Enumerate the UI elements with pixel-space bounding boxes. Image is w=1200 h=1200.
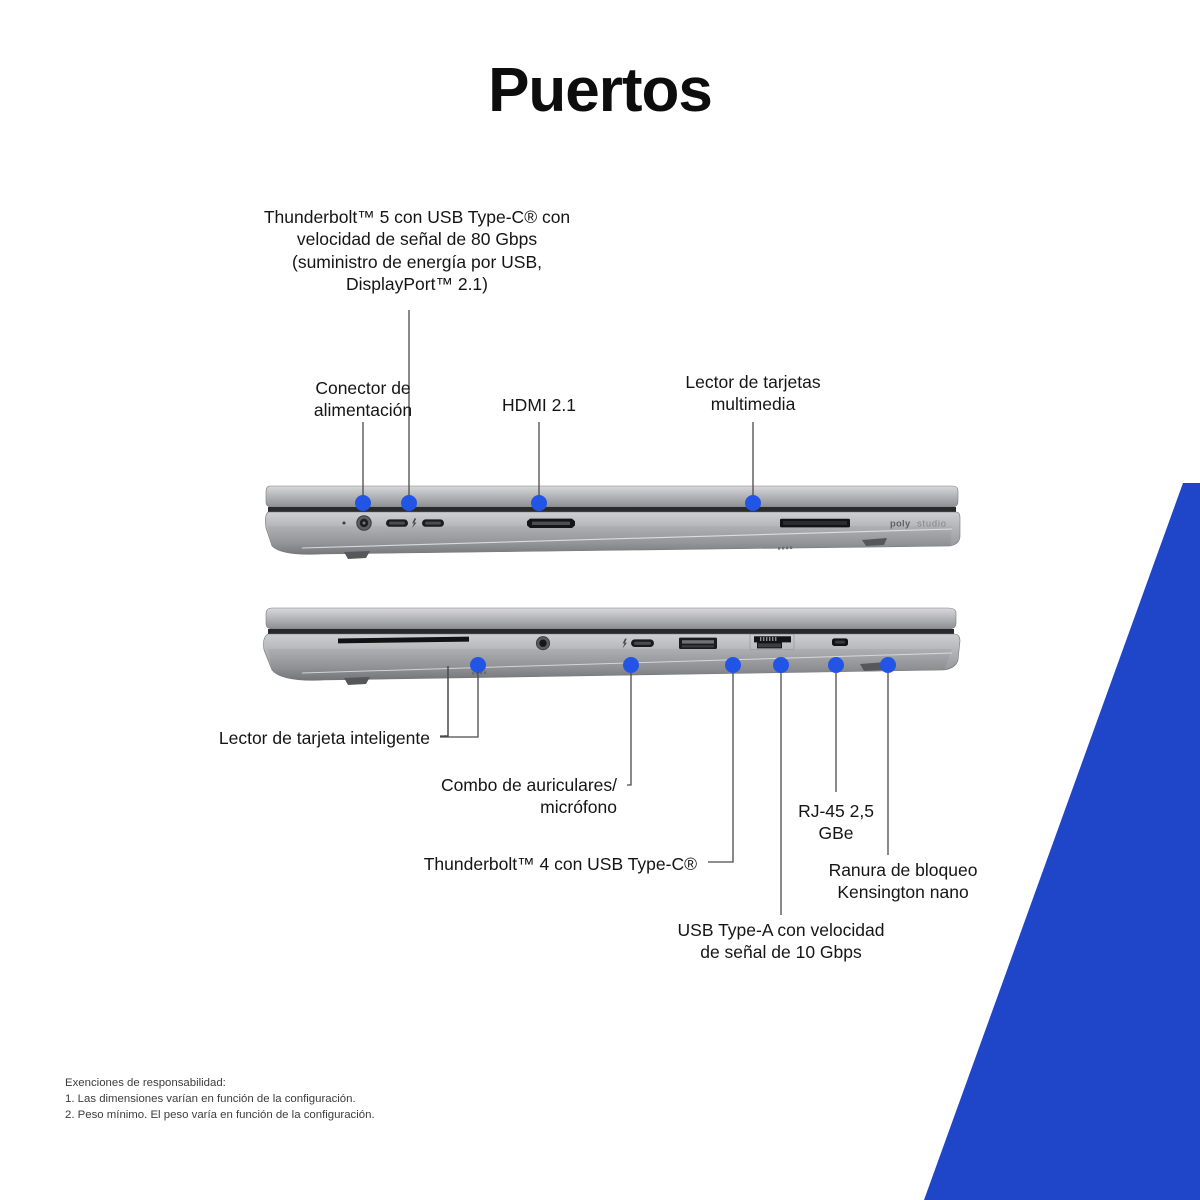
callout-label-smart-card-reader: Lector de tarjeta inteligente bbox=[100, 727, 430, 749]
callout-label-thunderbolt-5: Thunderbolt™ 5 con USB Type-C® con veloc… bbox=[243, 206, 591, 296]
dot-usb-a bbox=[773, 657, 789, 673]
callout-label-power-connector: Conector de alimentación bbox=[253, 377, 473, 422]
callout-label-headphone-mic: Combo de auriculares/ micrófono bbox=[297, 774, 617, 819]
dot-thunderbolt4 bbox=[725, 657, 741, 673]
dot-power-connector bbox=[355, 495, 371, 511]
dot-smartcard bbox=[470, 657, 486, 673]
callout-dots bbox=[355, 495, 896, 673]
dot-rj45 bbox=[828, 657, 844, 673]
callout-label-media-card-reader: Lector de tarjetas multimedia bbox=[643, 371, 863, 416]
callout-label-usb-type-a: USB Type-A con velocidad de señal de 10 … bbox=[636, 919, 926, 964]
leader-headphone bbox=[627, 666, 631, 785]
callout-leader-lines bbox=[0, 0, 1200, 1200]
callout-label-hdmi: HDMI 2.1 bbox=[469, 394, 609, 416]
leader-thunderbolt4 bbox=[708, 666, 733, 862]
callout-label-rj45: RJ-45 2,5 GBe bbox=[766, 800, 906, 845]
dot-headphone bbox=[623, 657, 639, 673]
dot-thunderbolt5 bbox=[401, 495, 417, 511]
slide-canvas: Puertos bbox=[0, 0, 1200, 1200]
callout-label-thunderbolt-4: Thunderbolt™ 4 con USB Type-C® bbox=[317, 853, 697, 875]
leader-smartcard bbox=[444, 666, 448, 736]
dot-hdmi bbox=[531, 495, 547, 511]
disclaimer-block: Exenciones de responsabilidad: 1. Las di… bbox=[65, 1075, 375, 1124]
callout-label-kensington: Ranura de bloqueo Kensington nano bbox=[793, 859, 1013, 904]
dot-kensington bbox=[880, 657, 896, 673]
dot-card-reader bbox=[745, 495, 761, 511]
